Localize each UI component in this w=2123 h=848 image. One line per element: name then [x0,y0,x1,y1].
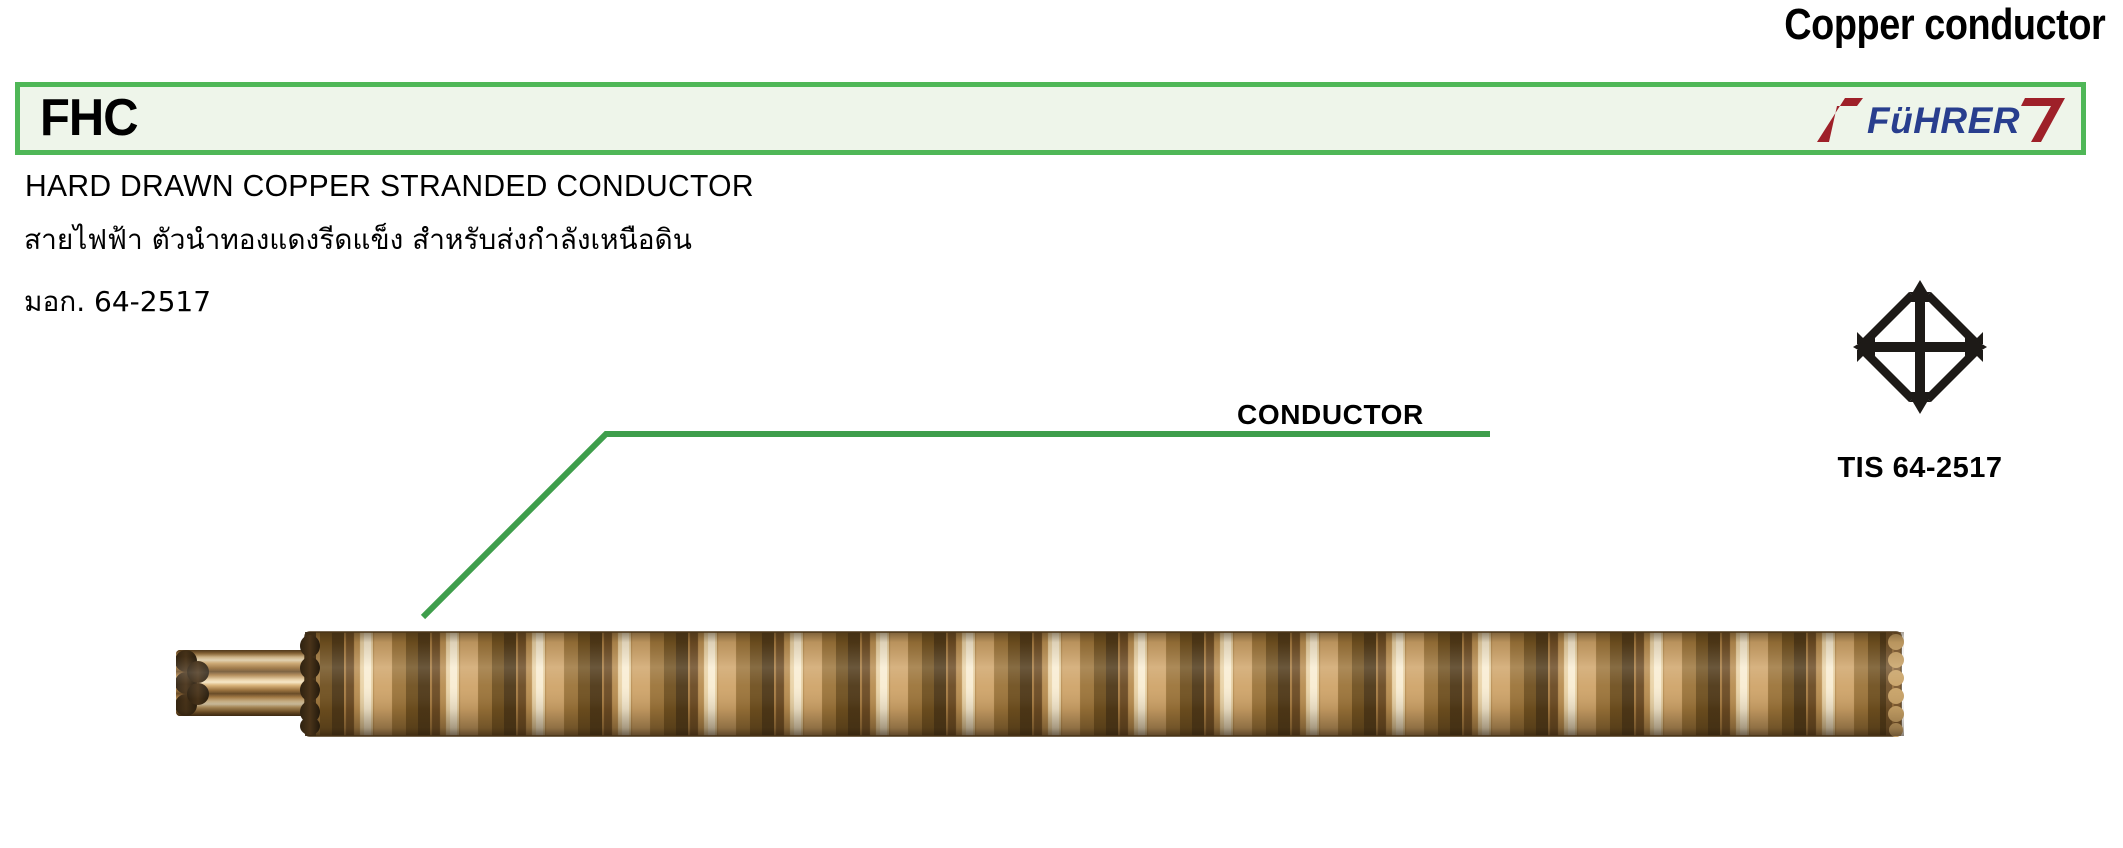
conductor-right-end [1886,632,1904,737]
conductor-body [245,552,1985,832]
conductor-illustration [0,0,2123,848]
conductor-cut-collar [300,632,320,736]
conductor-core-stub [175,650,312,716]
callout-label-conductor: CONDUCTOR [1237,399,1424,431]
